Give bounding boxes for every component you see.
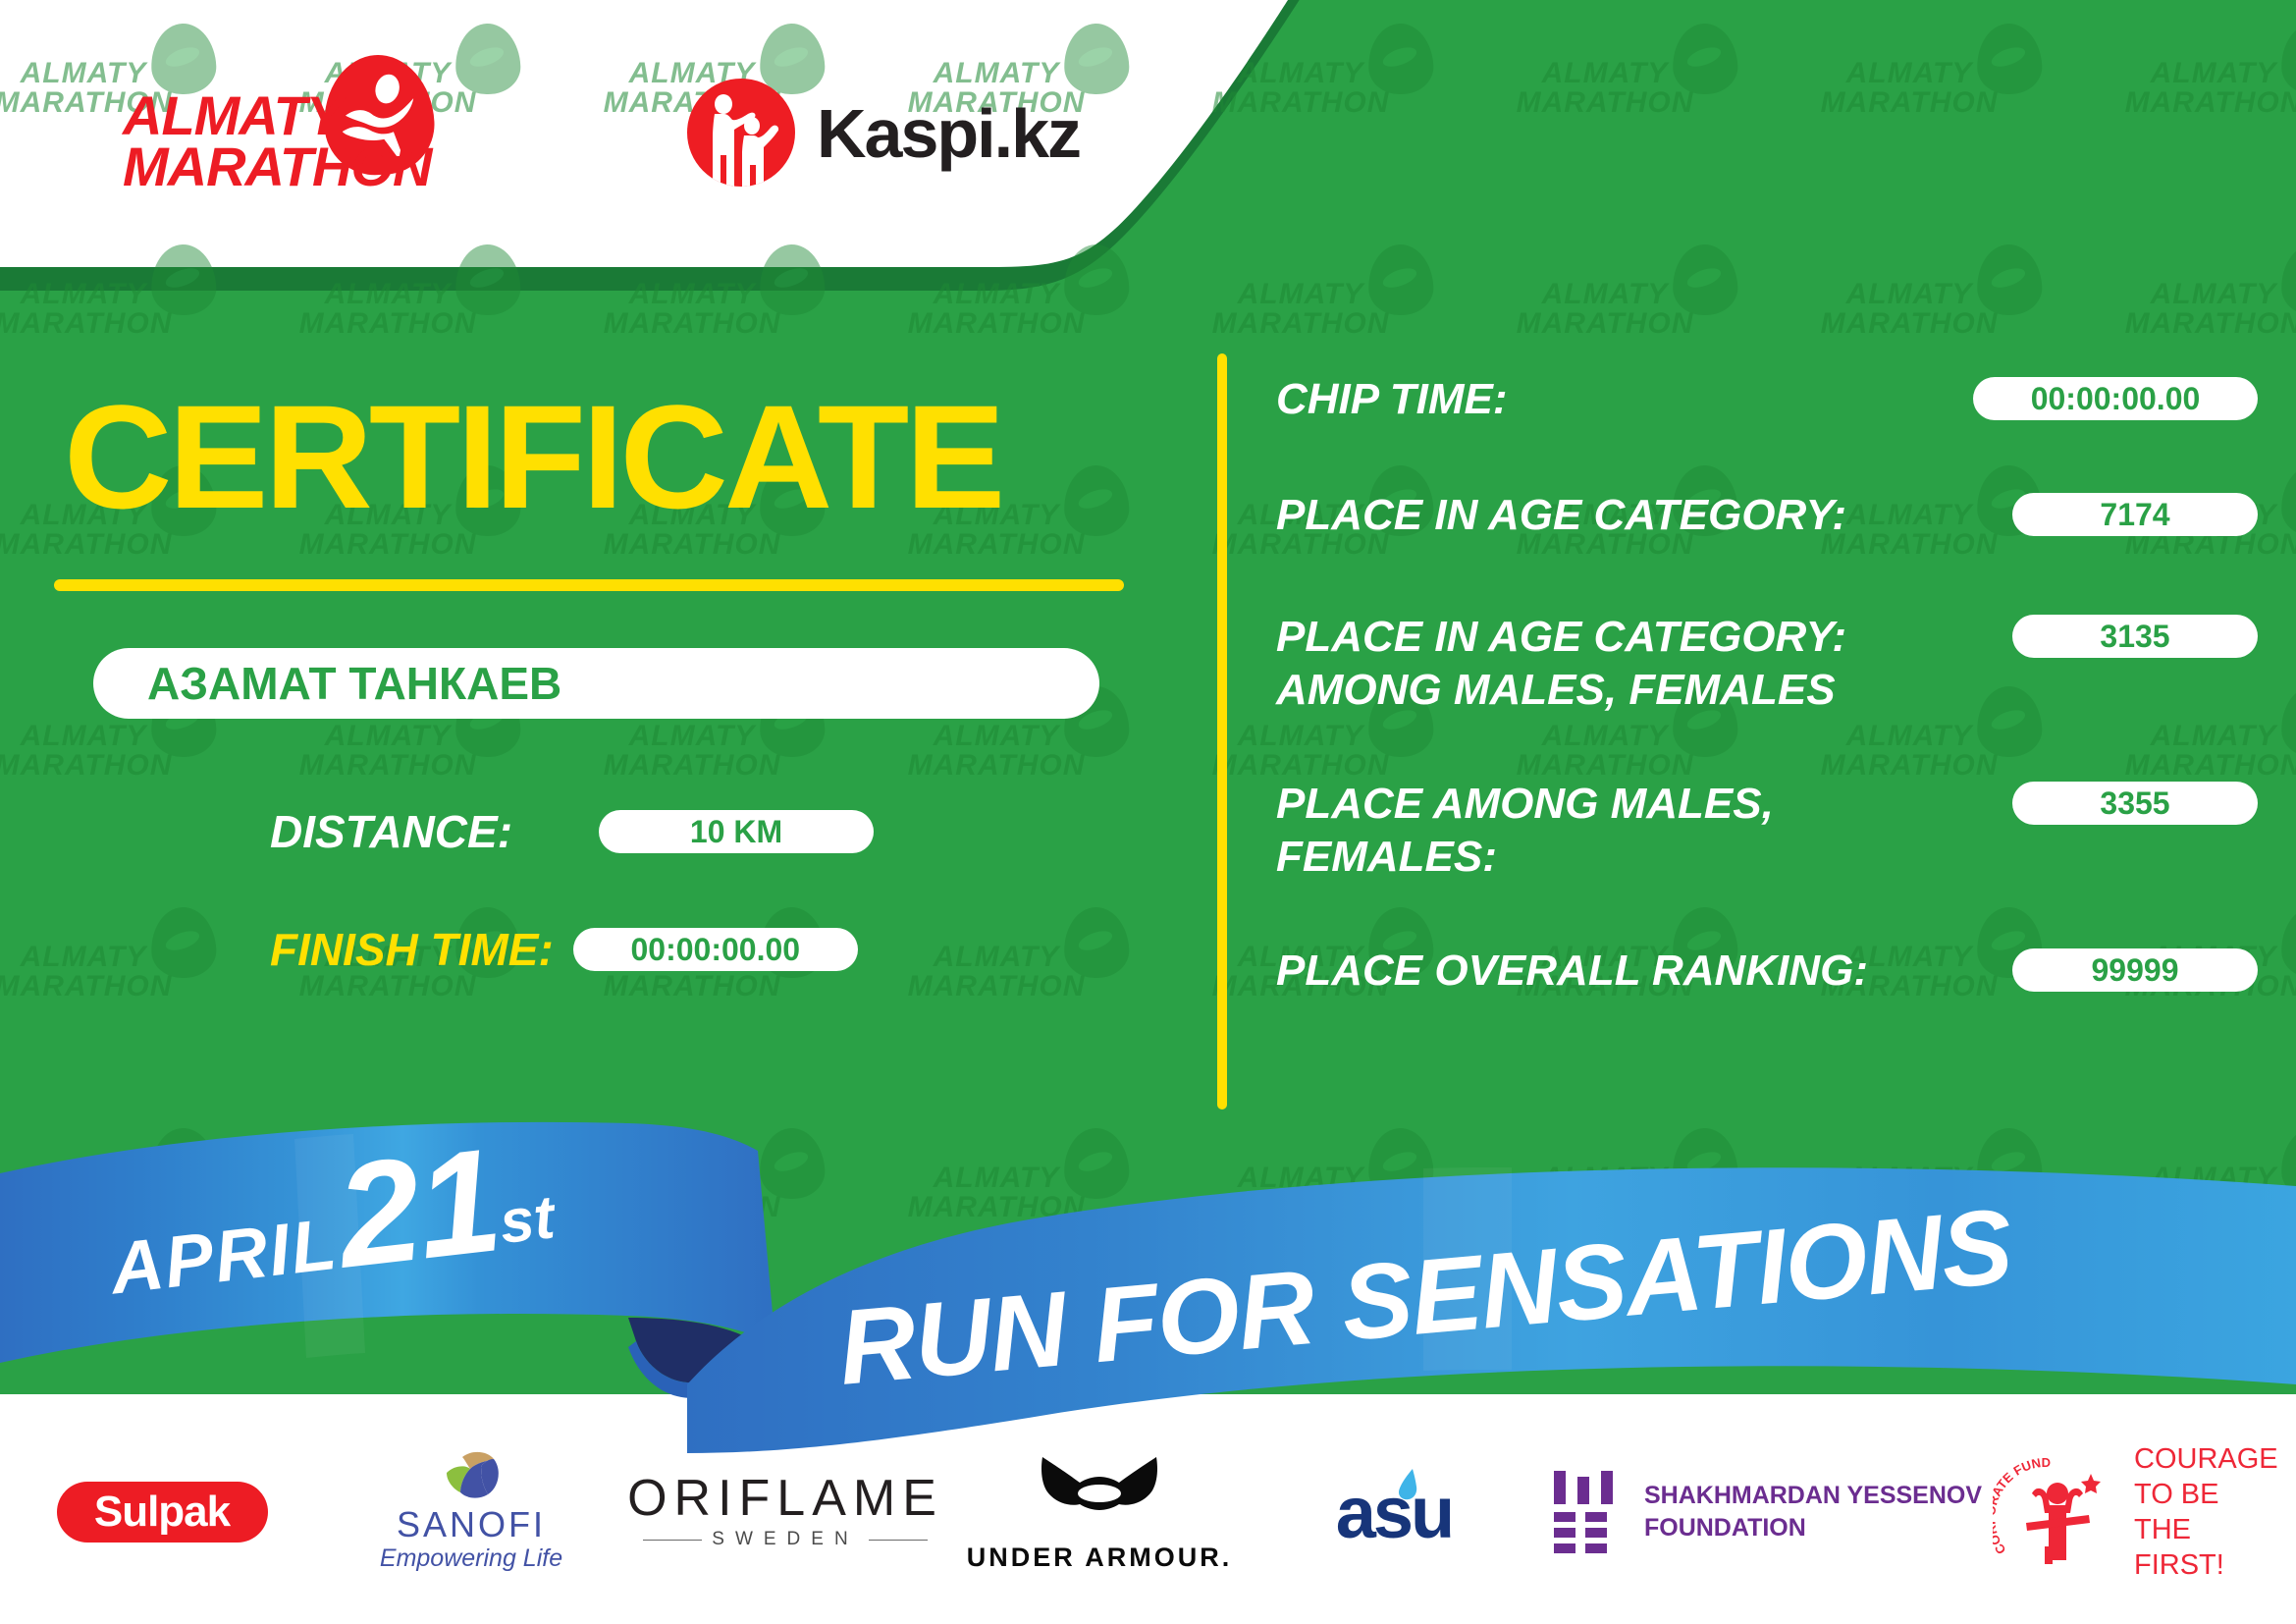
sanofi-leaf-icon — [439, 1451, 504, 1502]
kaspi-logo: Kaspi.kz — [687, 79, 1099, 196]
yessenov-line1: SHAKHMARDAN YESSENOV — [1644, 1480, 1982, 1512]
yessenov-mark-icon — [1552, 1471, 1623, 1553]
oriflame-sub: SWEDEN — [627, 1526, 943, 1553]
place-overall-ranking-value: 99999 — [2012, 948, 2258, 992]
watermark-line1: ALMATY — [1846, 57, 1973, 89]
watermark-line2: MARATHON — [2125, 307, 2296, 340]
watermark-line2: MARATHON — [604, 307, 781, 340]
results-column: CHIP TIME: 00:00:00.00 PLACE IN AGE CATE… — [1276, 373, 2258, 1043]
sponsor-oriflame: ORIFLAME SWEDEN — [618, 1429, 952, 1596]
header-panel: ALMATY MARATHON Kaspi.kz — [0, 0, 1335, 285]
sanofi-logo: SANOFI Empowering Life — [380, 1451, 562, 1573]
sponsor-yessenov: SHAKHMARDAN YESSENOV FOUNDATION — [1541, 1429, 1993, 1596]
participant-name-field: АЗАМАТ ТАНКАЕВ — [93, 648, 1099, 719]
sponsor-sulpak: Sulpak — [0, 1429, 324, 1596]
sulpak-logo: Sulpak — [57, 1482, 268, 1543]
event-day: 21 — [329, 1116, 507, 1298]
chip-time-label: CHIP TIME: — [1276, 373, 1507, 426]
watermark-line2: MARATHON — [299, 307, 477, 340]
courage-logo: CORPORATE FUND COURAGE TO BE THE FIRST! — [1993, 1441, 2287, 1583]
watermark-line2: MARATHON — [908, 970, 1086, 1002]
place-age-category-among-value: 3135 — [2012, 615, 2258, 658]
participant-name-value: АЗАМАТ ТАНКАЕВ — [147, 657, 561, 710]
watermark-line1: ALMATY — [1846, 278, 1973, 310]
watermark-line2: MARATHON — [604, 749, 781, 782]
kaspi-people-circle-icon — [687, 79, 795, 187]
watermark-line1: ALMATY — [2151, 57, 2277, 89]
watermark-line2: MARATHON — [2125, 86, 2296, 119]
place-overall-ranking-row: PLACE OVERALL RANKING: 99999 — [1276, 945, 2258, 998]
distance-value: 10 KM — [599, 810, 874, 853]
kaspi-people-icon — [687, 79, 795, 187]
event-ordinal: st — [497, 1183, 559, 1257]
watermark-line1: ALMATY — [1542, 278, 1669, 310]
place-age-category-value: 7174 — [2012, 493, 2258, 536]
watermark-line1: ALMATY — [21, 720, 147, 752]
sanofi-mark-icon — [439, 1451, 504, 1502]
sponsor-under-armour: UNDER ARMOUR. — [952, 1429, 1247, 1596]
sponsor-asu: asu — [1247, 1429, 1541, 1596]
oriflame-logo: ORIFLAME SWEDEN — [627, 1471, 943, 1553]
courage-line2: TO BE — [2134, 1477, 2287, 1512]
sanofi-wordmark: SANOFI — [380, 1506, 562, 1543]
watermark-line1: ALMATY — [21, 941, 147, 973]
place-among-males-females-label: PLACE AMONG MALES,FEMALES: — [1276, 778, 1774, 884]
rule-left — [643, 1540, 702, 1541]
chip-time-row: CHIP TIME: 00:00:00.00 — [1276, 373, 2258, 426]
watermark-line2: MARATHON — [908, 307, 1086, 340]
finish-time-row: FINISH TIME: 00:00:00.00 — [270, 923, 858, 976]
chip-time-value: 00:00:00.00 — [1973, 377, 2258, 420]
watermark-line2: MARATHON — [0, 749, 172, 782]
yessenov-bars-icon — [1552, 1471, 1623, 1553]
place-age-category-among-row: PLACE IN AGE CATEGORY:AMONG MALES, FEMAL… — [1276, 611, 2258, 717]
under-armour-wordmark: UNDER ARMOUR. — [967, 1543, 1233, 1572]
rule-right — [869, 1540, 928, 1541]
finish-time-value: 00:00:00.00 — [573, 928, 858, 971]
almaty-marathon-logo: ALMATY MARATHON — [123, 61, 466, 193]
asu-droplet-icon — [1391, 1467, 1424, 1500]
event-month: APRIL — [106, 1203, 342, 1310]
courage-figure-icon: CORPORATE FUND — [1993, 1458, 2120, 1568]
watermark-line1: ALMATY — [1542, 57, 1669, 89]
yessenov-line2: FOUNDATION — [1644, 1512, 1982, 1544]
courage-line3: THE FIRST! — [2134, 1512, 2287, 1583]
distance-row: DISTANCE: 10 KM — [270, 805, 874, 858]
watermark-line2: MARATHON — [908, 749, 1086, 782]
place-age-category-among-label: PLACE IN AGE CATEGORY:AMONG MALES, FEMAL… — [1276, 611, 1846, 717]
place-among-males-females-value: 3355 — [2012, 782, 2258, 825]
kaspi-wordmark: Kaspi.kz — [817, 94, 1080, 173]
watermark-line2: MARATHON — [299, 749, 477, 782]
courage-line1: COURAGE — [2134, 1441, 2287, 1477]
watermark-line1: ALMATY — [934, 941, 1060, 973]
place-age-category-label: PLACE IN AGE CATEGORY: — [1276, 489, 1846, 542]
finish-time-label: FINISH TIME: — [270, 923, 554, 976]
yessenov-logo: SHAKHMARDAN YESSENOV FOUNDATION — [1552, 1471, 1982, 1553]
oriflame-wordmark: ORIFLAME — [627, 1471, 943, 1526]
watermark-line2: MARATHON — [1517, 86, 1694, 119]
watermark-line2: MARATHON — [1212, 307, 1390, 340]
watermark-line1: ALMATY — [629, 720, 756, 752]
logo-line-marathon: MARATHON — [123, 135, 431, 197]
place-overall-ranking-label: PLACE OVERALL RANKING: — [1276, 945, 1868, 998]
under-armour-icon — [1035, 1453, 1164, 1538]
column-divider — [1217, 353, 1227, 1110]
distance-label: DISTANCE: — [270, 805, 512, 858]
page-title: CERTIFICATE — [64, 383, 1001, 530]
watermark-line2: MARATHON — [0, 970, 172, 1002]
asu-logo: asu — [1336, 1471, 1453, 1554]
almaty-marathon-wordmark: ALMATY MARATHON — [123, 90, 431, 192]
watermark-line2: MARATHON — [1821, 307, 1999, 340]
certificate-canvas: ALMATYMARATHON ALMATYMARATHON ALMATYMARA… — [0, 0, 2296, 1624]
sponsor-bar: Sulpak SANOFI Empowering Life ORIFLAME — [0, 1429, 2296, 1596]
watermark-line2: MARATHON — [1821, 86, 1999, 119]
svg-text:CORPORATE FUND: CORPORATE FUND — [1993, 1458, 2051, 1557]
under-armour-logo: UNDER ARMOUR. — [967, 1453, 1233, 1572]
watermark-line1: ALMATY — [2151, 278, 2277, 310]
sponsor-courage: CORPORATE FUND COURAGE TO BE THE FIRST! — [1993, 1429, 2287, 1596]
oriflame-sub-text: SWEDEN — [712, 1526, 858, 1553]
courage-mark-icon: CORPORATE FUND — [1993, 1458, 2120, 1566]
watermark-line2: MARATHON — [0, 307, 172, 340]
watermark-line2: MARATHON — [1517, 307, 1694, 340]
title-underline — [54, 579, 1124, 591]
watermark-line1: ALMATY — [934, 720, 1060, 752]
sanofi-tagline: Empowering Life — [380, 1543, 562, 1573]
courage-wordmark: COURAGE TO BE THE FIRST! — [2134, 1441, 2287, 1583]
watermark-line1: ALMATY — [325, 720, 452, 752]
yessenov-wordmark: SHAKHMARDAN YESSENOV FOUNDATION — [1644, 1480, 1982, 1544]
sponsor-sanofi: SANOFI Empowering Life — [324, 1429, 618, 1596]
place-age-category-row: PLACE IN AGE CATEGORY: 7174 — [1276, 489, 2258, 542]
place-among-males-females-row: PLACE AMONG MALES,FEMALES: 3355 — [1276, 778, 2258, 884]
